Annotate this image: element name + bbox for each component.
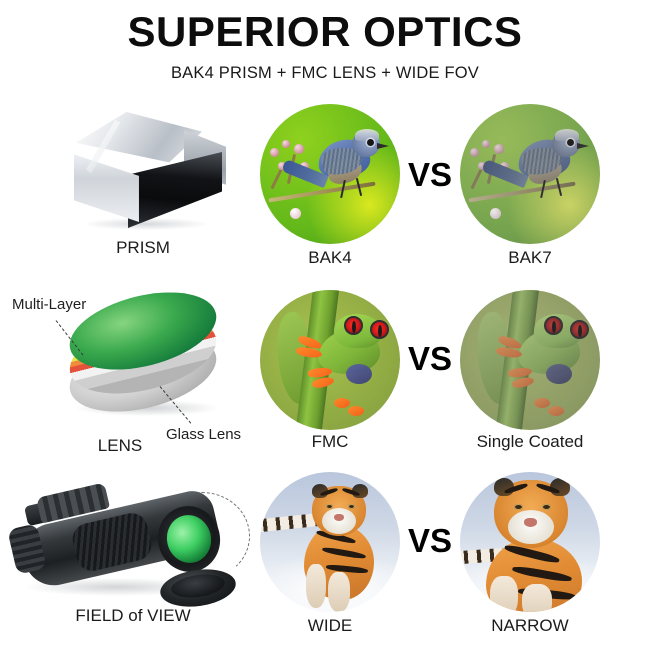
- tiger-eye: [326, 504, 333, 509]
- tiger-leg: [522, 584, 552, 612]
- caption-narrow: NARROW: [460, 616, 600, 636]
- caption-fmc: FMC: [260, 432, 400, 452]
- tiger-leg: [328, 572, 350, 612]
- tiger-eye: [542, 504, 551, 510]
- tiger-leg: [490, 576, 518, 612]
- row-fov: FIELD of VIEW WIDE VS: [0, 468, 650, 650]
- tiger-eye: [348, 504, 355, 509]
- page-subtitle: BAK4 PRISM + FMC LENS + WIDE FOV: [0, 64, 650, 83]
- bird-blossom: [282, 140, 290, 148]
- photo-narrow: [460, 472, 600, 612]
- frog-flank: [346, 364, 372, 384]
- vs-label-lens: VS: [405, 340, 455, 378]
- bird-blossom: [294, 144, 304, 154]
- frog-foot: [334, 398, 350, 408]
- tiger-nose: [334, 514, 344, 521]
- bird-beak: [377, 143, 389, 149]
- page-title: SUPERIOR OPTICS: [0, 8, 650, 56]
- lens-illustration: [58, 294, 238, 424]
- caption-bak7: BAK7: [460, 248, 600, 268]
- infographic-page: SUPERIOR OPTICS BAK4 PRISM + FMC LENS + …: [0, 0, 650, 650]
- tiger-leg: [306, 564, 326, 608]
- bird-blossom: [482, 140, 490, 148]
- photo-bak7: [460, 104, 600, 244]
- caption-prism: PRISM: [28, 238, 258, 258]
- frog-foot: [548, 406, 564, 416]
- prism-face-dark: [128, 152, 222, 228]
- vs-label-fov: VS: [405, 522, 455, 560]
- photo-single-coated: [460, 290, 600, 430]
- frog-foot: [534, 398, 550, 408]
- bird-blossom: [470, 148, 479, 157]
- prism-illustration: [58, 106, 228, 236]
- bird-eye: [367, 139, 374, 146]
- bird-blossom: [270, 148, 279, 157]
- frog-eye: [344, 316, 363, 335]
- tiger-nose: [524, 518, 537, 527]
- monocular-illustration: [8, 474, 256, 614]
- photo-bak4: [260, 104, 400, 244]
- bird-blossom: [490, 208, 501, 219]
- caption-lens: LENS: [60, 436, 180, 456]
- caption-single-coated: Single Coated: [450, 432, 610, 452]
- caption-field-of-view: FIELD of VIEW: [18, 606, 248, 626]
- bird-eye: [567, 139, 574, 146]
- photo-fmc: [260, 290, 400, 430]
- row-lens: Multi-Layer Glass Lens LENS FMC VS: [0, 288, 650, 463]
- caption-bak4: BAK4: [260, 248, 400, 268]
- frog-foot: [348, 406, 364, 416]
- vs-label-prism: VS: [405, 156, 455, 194]
- tiger-eye: [514, 504, 523, 510]
- photo-wide: [260, 472, 400, 612]
- bird-blossom: [494, 144, 504, 154]
- frog-eye: [570, 320, 589, 339]
- frog-eye: [544, 316, 563, 335]
- frog-eye: [370, 320, 389, 339]
- bird-blossom: [290, 208, 301, 219]
- row-prism: PRISM BAK4 VS: [0, 98, 650, 283]
- frog-flank: [546, 364, 572, 384]
- tiger-muzzle: [322, 508, 356, 534]
- caption-wide: WIDE: [260, 616, 400, 636]
- tiger-muzzle: [508, 510, 554, 544]
- bird-beak: [577, 143, 589, 149]
- multi-layer-annotation: Multi-Layer: [12, 296, 86, 313]
